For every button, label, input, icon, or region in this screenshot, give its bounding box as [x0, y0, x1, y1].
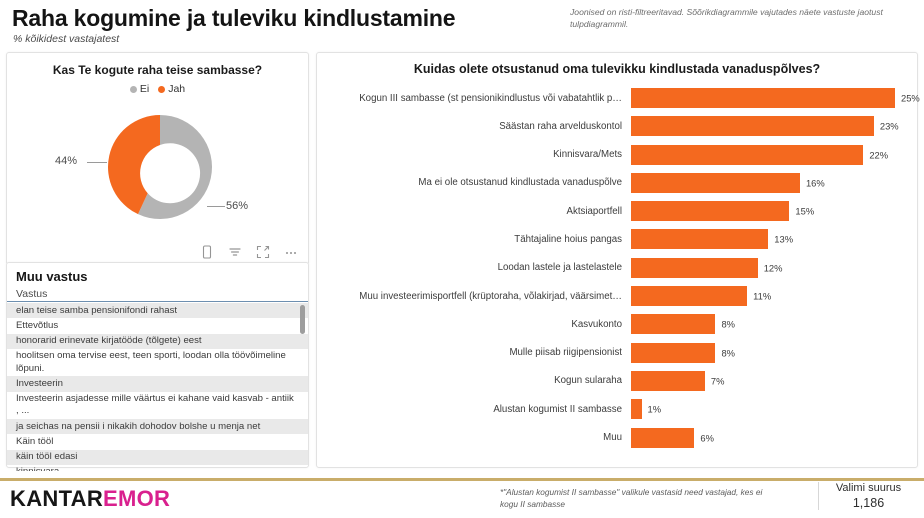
filter-icon[interactable]: [228, 245, 242, 259]
other-answers-list[interactable]: elan teise samba pensionifondi rahastEtt…: [7, 303, 308, 471]
bar-row[interactable]: Aktsiaportfell15%: [317, 198, 917, 224]
donut-chart-title: Kas Te kogute raha teise sambasse?: [7, 63, 308, 77]
list-item[interactable]: Investeerin asjadesse mille väärtus ei k…: [7, 392, 308, 420]
list-scrollbar-thumb[interactable]: [300, 305, 305, 334]
bar-value-label: 11%: [753, 291, 771, 302]
mobile-layout-icon[interactable]: [200, 245, 214, 259]
bar-category-label: Aktsiaportfell: [317, 206, 631, 217]
bar-track: 8%: [631, 343, 917, 363]
bar-fill[interactable]: [631, 428, 694, 448]
bar-value-label: 15%: [795, 206, 814, 217]
bar-row[interactable]: Kogun sularaha7%: [317, 368, 917, 394]
bar-row[interactable]: Tähtajaline hoius pangas13%: [317, 226, 917, 252]
donut-leader-line: [207, 206, 225, 207]
bar-value-label: 1%: [648, 404, 662, 415]
logo-kantar: KANTAR: [10, 486, 103, 511]
bar-fill[interactable]: [631, 173, 800, 193]
footer-note: *"Alustan kogumist II sambasse" valikule…: [500, 486, 780, 511]
bar-row[interactable]: Kasvukonto8%: [317, 311, 917, 337]
dashboard-page: Raha kogumine ja tuleviku kindlustamine …: [0, 0, 924, 518]
bar-value-label: 22%: [869, 149, 888, 160]
other-answers-panel[interactable]: Muu vastus Vastus ▲ elan teise samba pen…: [6, 262, 309, 468]
page-title: Raha kogumine ja tuleviku kindlustamine: [12, 5, 455, 32]
bar-category-label: Loodan lastele ja lastelastele: [317, 262, 631, 273]
bar-category-label: Alustan kogumist II sambasse: [317, 404, 631, 415]
legend-swatch-icon: [130, 86, 137, 93]
bar-fill[interactable]: [631, 286, 747, 306]
bar-row[interactable]: Säästan raha arvelduskontol23%: [317, 113, 917, 139]
donut-chart-panel[interactable]: Kas Te kogute raha teise sambasse? Ei Ja…: [6, 52, 309, 265]
list-item[interactable]: Käin tööl: [7, 434, 308, 449]
bar-row[interactable]: Kinnisvara/Mets22%: [317, 142, 917, 168]
bar-track: 12%: [631, 258, 917, 278]
bar-track: 8%: [631, 314, 917, 334]
legend-item-ei[interactable]: Ei: [130, 83, 149, 95]
bar-track: 1%: [631, 399, 917, 419]
donut-chart-svg[interactable]: [104, 97, 216, 237]
header-note: Joonised on risti-filtreeritavad. Sõõrik…: [570, 6, 915, 31]
list-item[interactable]: honorarid erinevate kirjatööde (tõlgete)…: [7, 334, 308, 349]
bar-category-label: Muu: [317, 432, 631, 443]
bar-fill[interactable]: [631, 229, 768, 249]
bar-value-label: 6%: [700, 432, 714, 443]
bar-category-label: Säästan raha arvelduskontol: [317, 121, 631, 132]
donut-value-ei: 56%: [226, 200, 248, 212]
bar-row[interactable]: Muu6%: [317, 425, 917, 451]
focus-mode-icon[interactable]: [256, 245, 270, 259]
bar-value-label: 13%: [774, 234, 793, 245]
legend-label-ei: Ei: [140, 83, 149, 95]
bar-category-label: Muu investeerimisportfell (krüptoraha, v…: [317, 291, 631, 302]
bar-row[interactable]: Loodan lastele ja lastelastele12%: [317, 255, 917, 281]
footer-divider: [0, 478, 924, 481]
other-answers-title: Muu vastus: [7, 263, 308, 287]
bar-value-label: 16%: [806, 177, 825, 188]
bar-track: 6%: [631, 428, 917, 448]
list-item[interactable]: käin tööl edasi: [7, 450, 308, 465]
page-subtitle: % kõikidest vastajatest: [13, 33, 119, 45]
donut-legend: Ei Jah: [7, 83, 308, 95]
bar-category-label: Kogun sularaha: [317, 375, 631, 386]
more-options-icon[interactable]: [284, 245, 298, 259]
page-header: Raha kogumine ja tuleviku kindlustamine …: [0, 0, 924, 50]
list-item[interactable]: hoolitsen oma tervise eest, teen sporti,…: [7, 349, 308, 377]
bar-value-label: 12%: [764, 262, 783, 273]
bar-row[interactable]: Mulle piisab riigipensionist8%: [317, 340, 917, 366]
bar-chart-panel[interactable]: Kuidas olete otsustanud oma tulevikku ki…: [316, 52, 918, 468]
bar-track: 13%: [631, 229, 917, 249]
list-item[interactable]: elan teise samba pensionifondi rahast: [7, 303, 308, 318]
bar-value-label: 25%: [901, 93, 920, 104]
list-item[interactable]: Ettevõtlus: [7, 318, 308, 333]
legend-swatch-icon: [158, 86, 165, 93]
legend-item-jah[interactable]: Jah: [158, 83, 185, 95]
bar-fill[interactable]: [631, 201, 789, 221]
bar-track: 7%: [631, 371, 917, 391]
bar-row[interactable]: Kogun III sambasse (st pensionikindlustu…: [317, 85, 917, 111]
bar-chart-area: Kogun III sambasse (st pensionikindlustu…: [317, 85, 917, 457]
bar-chart-title: Kuidas olete otsustanud oma tulevikku ki…: [317, 62, 917, 76]
sample-size-box: Valimi suurus 1,186: [818, 482, 918, 510]
logo-emor: EMOR: [103, 486, 170, 511]
bar-fill[interactable]: [631, 116, 874, 136]
brand-logo: KANTAREMOR: [10, 486, 170, 512]
bar-fill[interactable]: [631, 314, 715, 334]
bar-track: 25%: [631, 88, 917, 108]
bar-category-label: Kinnisvara/Mets: [317, 149, 631, 160]
page-footer: KANTAREMOR *"Alustan kogumist II sambass…: [0, 478, 924, 518]
bar-fill[interactable]: [631, 258, 758, 278]
bar-category-label: Kogun III sambasse (st pensionikindlustu…: [317, 93, 631, 104]
bar-track: 16%: [631, 173, 917, 193]
bar-track: 11%: [631, 286, 917, 306]
bar-row[interactable]: Muu investeerimisportfell (krüptoraha, v…: [317, 283, 917, 309]
sample-size-label: Valimi suurus: [819, 482, 918, 494]
list-item[interactable]: Investeerin: [7, 376, 308, 391]
bar-fill[interactable]: [631, 88, 895, 108]
column-header-vastus[interactable]: Vastus: [7, 287, 308, 302]
bar-category-label: Kasvukonto: [317, 319, 631, 330]
bar-track: 15%: [631, 201, 917, 221]
bar-track: 23%: [631, 116, 917, 136]
bar-fill[interactable]: [631, 145, 863, 165]
bar-category-label: Tähtajaline hoius pangas: [317, 234, 631, 245]
bar-fill[interactable]: [631, 371, 705, 391]
bar-row[interactable]: Alustan kogumist II sambasse1%: [317, 396, 917, 422]
bar-value-label: 8%: [721, 319, 735, 330]
bar-value-label: 23%: [880, 121, 899, 132]
bar-fill[interactable]: [631, 399, 642, 419]
legend-label-jah: Jah: [168, 83, 185, 95]
bar-category-label: Ma ei ole otsustanud kindlustada vanadus…: [317, 177, 631, 188]
list-item[interactable]: ja seichas na pensii i nikakih dohodov b…: [7, 419, 308, 434]
donut-value-jah: 44%: [55, 155, 77, 167]
sample-size-value: 1,186: [819, 496, 918, 510]
list-item[interactable]: kinnisvara: [7, 465, 308, 471]
bar-value-label: 8%: [721, 347, 735, 358]
chart-toolbar: [200, 245, 298, 259]
bar-category-label: Mulle piisab riigipensionist: [317, 347, 631, 358]
donut-chart-area: 44% 56%: [7, 97, 310, 247]
bar-row[interactable]: Ma ei ole otsustanud kindlustada vanadus…: [317, 170, 917, 196]
bar-fill[interactable]: [631, 343, 715, 363]
bar-value-label: 7%: [711, 375, 725, 386]
donut-leader-line: [87, 162, 107, 163]
bar-track: 22%: [631, 145, 917, 165]
